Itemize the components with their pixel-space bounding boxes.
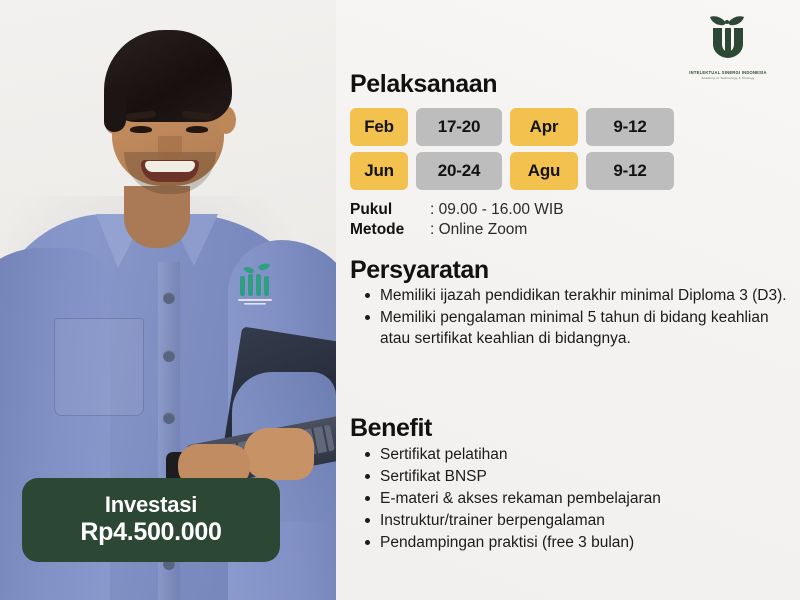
schedule-month: Feb <box>350 108 408 146</box>
brand-name: INTELEKTUAL SINERGI INDONESIA <box>680 70 776 75</box>
schedule-dates: 20-24 <box>416 152 502 190</box>
schedule-month: Apr <box>510 108 578 146</box>
meta-key: Pukul <box>350 200 430 220</box>
benefits-title: Benefit <box>350 414 432 443</box>
schedule-dates: 9-12 <box>586 108 674 146</box>
schedule-dates: 17-20 <box>416 108 502 146</box>
benefits-list: Sertifikat pelatihan Sertifikat BNSP E-m… <box>350 444 800 554</box>
list-item: Memiliki pengalaman minimal 5 tahun di b… <box>380 307 800 349</box>
investment-label: Investasi <box>105 493 197 518</box>
training-program-poster: Investasi Rp4.500.000 INTELEKTUAL SINERG… <box>0 0 800 600</box>
brand-logo: INTELEKTUAL SINERGI INDONESIA Academy of… <box>680 14 776 80</box>
list-item: E-materi & akses rekaman pembelajaran <box>380 488 800 509</box>
person-mouth <box>141 160 199 182</box>
shirt-button <box>163 292 175 304</box>
person-right-hand <box>244 428 314 480</box>
list-item: Instruktur/trainer berpengalaman <box>380 510 800 531</box>
meta-row-time: Pukul : 09.00 - 16.00 WIB <box>350 200 564 220</box>
list-item: Sertifikat BNSP <box>380 466 800 487</box>
brand-tagline: Academy of Technology & Strategy <box>680 76 776 80</box>
person-hair-side <box>104 84 126 132</box>
schedule-grid: Feb 17-20 Apr 9-12 Jun 20-24 Agu 9-12 <box>350 108 662 190</box>
investment-badge: Investasi Rp4.500.000 <box>22 478 280 562</box>
list-item: Pendampingan praktisi (free 3 bulan) <box>380 532 800 553</box>
schedule-dates: 9-12 <box>586 152 674 190</box>
schedule-title: Pelaksanaan <box>350 70 497 99</box>
schedule-month: Agu <box>510 152 578 190</box>
person-neck <box>124 186 190 248</box>
content-panel: INTELEKTUAL SINERGI INDONESIA Academy of… <box>336 0 800 600</box>
schedule-meta: Pukul : 09.00 - 16.00 WIB Metode : Onlin… <box>350 200 564 240</box>
requirements-title: Persyaratan <box>350 256 489 285</box>
meta-row-method: Metode : Online Zoom <box>350 220 564 240</box>
investment-price: Rp4.500.000 <box>80 517 221 547</box>
meta-value: : Online Zoom <box>430 220 527 240</box>
person-teeth <box>145 161 195 172</box>
list-item: Memiliki ijazah pendidikan terakhir mini… <box>380 285 800 306</box>
requirements-list: Memiliki ijazah pendidikan terakhir mini… <box>350 285 800 350</box>
person-left-eye <box>130 126 152 133</box>
meta-key: Metode <box>350 220 430 240</box>
shirt-button <box>163 412 175 424</box>
shirt-button <box>163 350 175 362</box>
schedule-month: Jun <box>350 152 408 190</box>
list-item: Sertifikat pelatihan <box>380 444 800 465</box>
person-right-eye <box>186 126 208 133</box>
leaf-monogram-icon <box>699 14 757 64</box>
company-emblem-icon <box>222 262 288 310</box>
person-nose <box>158 136 182 162</box>
shirt-pocket <box>54 318 144 416</box>
meta-value: : 09.00 - 16.00 WIB <box>430 200 564 220</box>
